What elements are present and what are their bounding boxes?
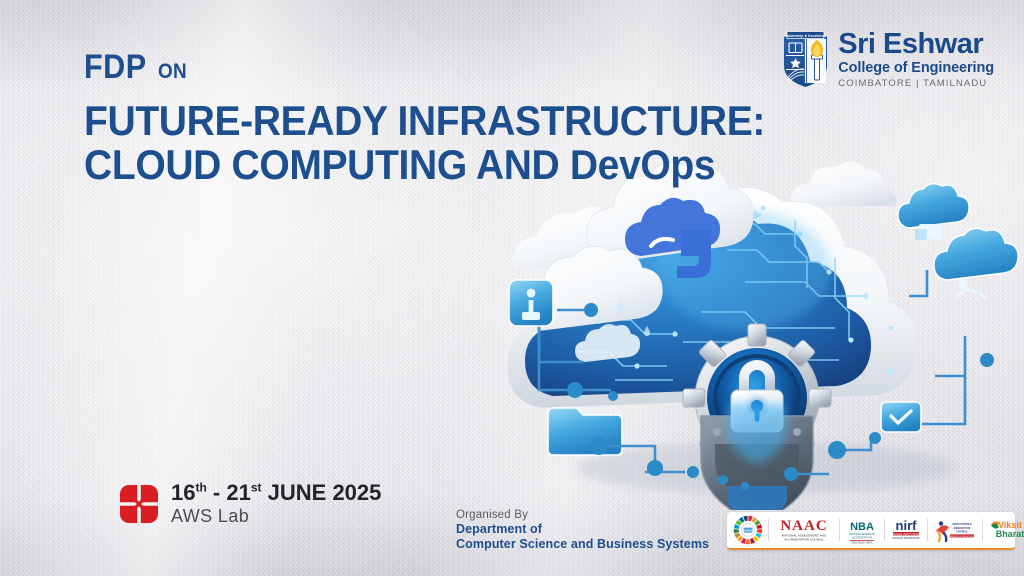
organised-by-label: Organised By [456,508,709,522]
cloud-computing-illustration [495,150,1024,510]
department-line-2: Computer Science and Business Systems [456,537,709,552]
svg-text:ACCREDITATION COUNCIL: ACCREDITATION COUNCIL [784,538,824,542]
svg-text:nirf: nirf [896,518,918,533]
poster-canvas: FDPON FUTURE-READY INFRASTRUCTURE: CLOUD… [0,0,1024,576]
badge-separator [982,519,983,541]
viksit-bharat-logo: Viksit Bharat [988,515,1024,545]
svg-text:NATIONAL INSTITUTIONAL: NATIONAL INSTITUTIONAL [891,533,922,536]
kicker-small: ON [158,61,187,82]
svg-text:Leadership & Excellence: Leadership & Excellence [785,34,827,38]
date-dash: - [207,480,227,505]
date-text: 16th - 21st JUNE 2025 AWS Lab [171,481,381,527]
department-line-1: Department of [456,522,709,537]
kicker: FDPON [84,50,816,84]
month-year: JUNE 2025 [262,480,382,505]
sdg-wheel-icon: GOALS [733,515,763,545]
svg-text:NEW DELHI, INDIA: NEW DELHI, INDIA [852,542,873,545]
day-start: 16 [171,480,195,505]
naac-logo: NAAC NATIONAL ASSESSMENT AND ACCREDITATI… [774,515,834,545]
college-logo-text: Sri Eshwar College of Engineering COIMBA… [838,30,994,88]
date-block: 16th - 21st JUNE 2025 AWS Lab [120,481,381,527]
badge-separator [884,519,885,541]
calendar-icon [120,485,158,523]
college-subtitle: College of Engineering [838,61,994,76]
badge-separator [927,519,928,541]
svg-text:ACCREDITATION: ACCREDITATION [852,536,872,539]
accreditation-strip: GOALS NAAC NATIONAL ASSESSMENT AND ACCRE… [727,512,1015,550]
title-line-1: FUTURE-READY INFRASTRUCTURE: [84,99,765,143]
headline-block: FDPON FUTURE-READY INFRASTRUCTURE: CLOUD… [84,50,816,186]
page-title: FUTURE-READY INFRASTRUCTURE: CLOUD COMPU… [84,99,816,186]
college-location: COIMBATORE | TAMILNADU [838,79,994,89]
svg-text:GOALS: GOALS [744,530,753,533]
badge-separator [768,519,769,541]
svg-text:NAAC: NAAC [780,518,827,534]
venue-label: AWS Lab [171,506,381,527]
nirf-logo: nirf NATIONAL INSTITUTIONAL RANKING FRAM… [890,515,922,545]
checkbox-icon [881,402,921,432]
hero-illustration [495,150,1024,510]
organised-by-block: Organised By Department of Computer Scie… [456,508,709,553]
mini-cloud-monitor-icon [898,184,969,240]
svg-text:COUNCIL: COUNCIL [956,530,969,534]
kicker-main: FDP [84,50,147,84]
college-logo: Leadership & Excellence [782,30,994,88]
day-start-suffix: th [195,481,206,495]
user-info-icon [509,280,553,326]
svg-text:RANKING FRAMEWORK: RANKING FRAMEWORK [892,537,920,540]
college-name: Sri Eshwar [838,30,994,59]
badge-separator [839,519,840,541]
day-end-suffix: st [251,481,262,495]
svg-text:Bharat: Bharat [996,529,1024,539]
title-line-2: CLOUD COMPUTING AND DevOps [84,143,765,187]
nba-logo: NBA NATIONAL BOARD OF ACCREDITATION NEW … [845,515,879,545]
svg-text:MINISTRY OF EDUCATION: MINISTRY OF EDUCATION [948,535,976,538]
college-crest-icon: Leadership & Excellence [782,30,829,88]
folder-icon [548,408,622,455]
svg-text:NBA: NBA [850,521,874,533]
mini-cloud-share-icon [934,228,1018,299]
torch-icon [807,39,826,83]
iic-figure-icon [935,521,949,541]
svg-text:INNOVATION: INNOVATION [954,526,971,530]
iic-logo: INSTITUTION'S INNOVATION COUNCIL MINISTR… [933,515,977,545]
date-range: 16th - 21st JUNE 2025 [171,481,381,504]
svg-text:INSTITUTION'S: INSTITUTION'S [952,522,972,526]
day-end: 21 [226,480,250,505]
